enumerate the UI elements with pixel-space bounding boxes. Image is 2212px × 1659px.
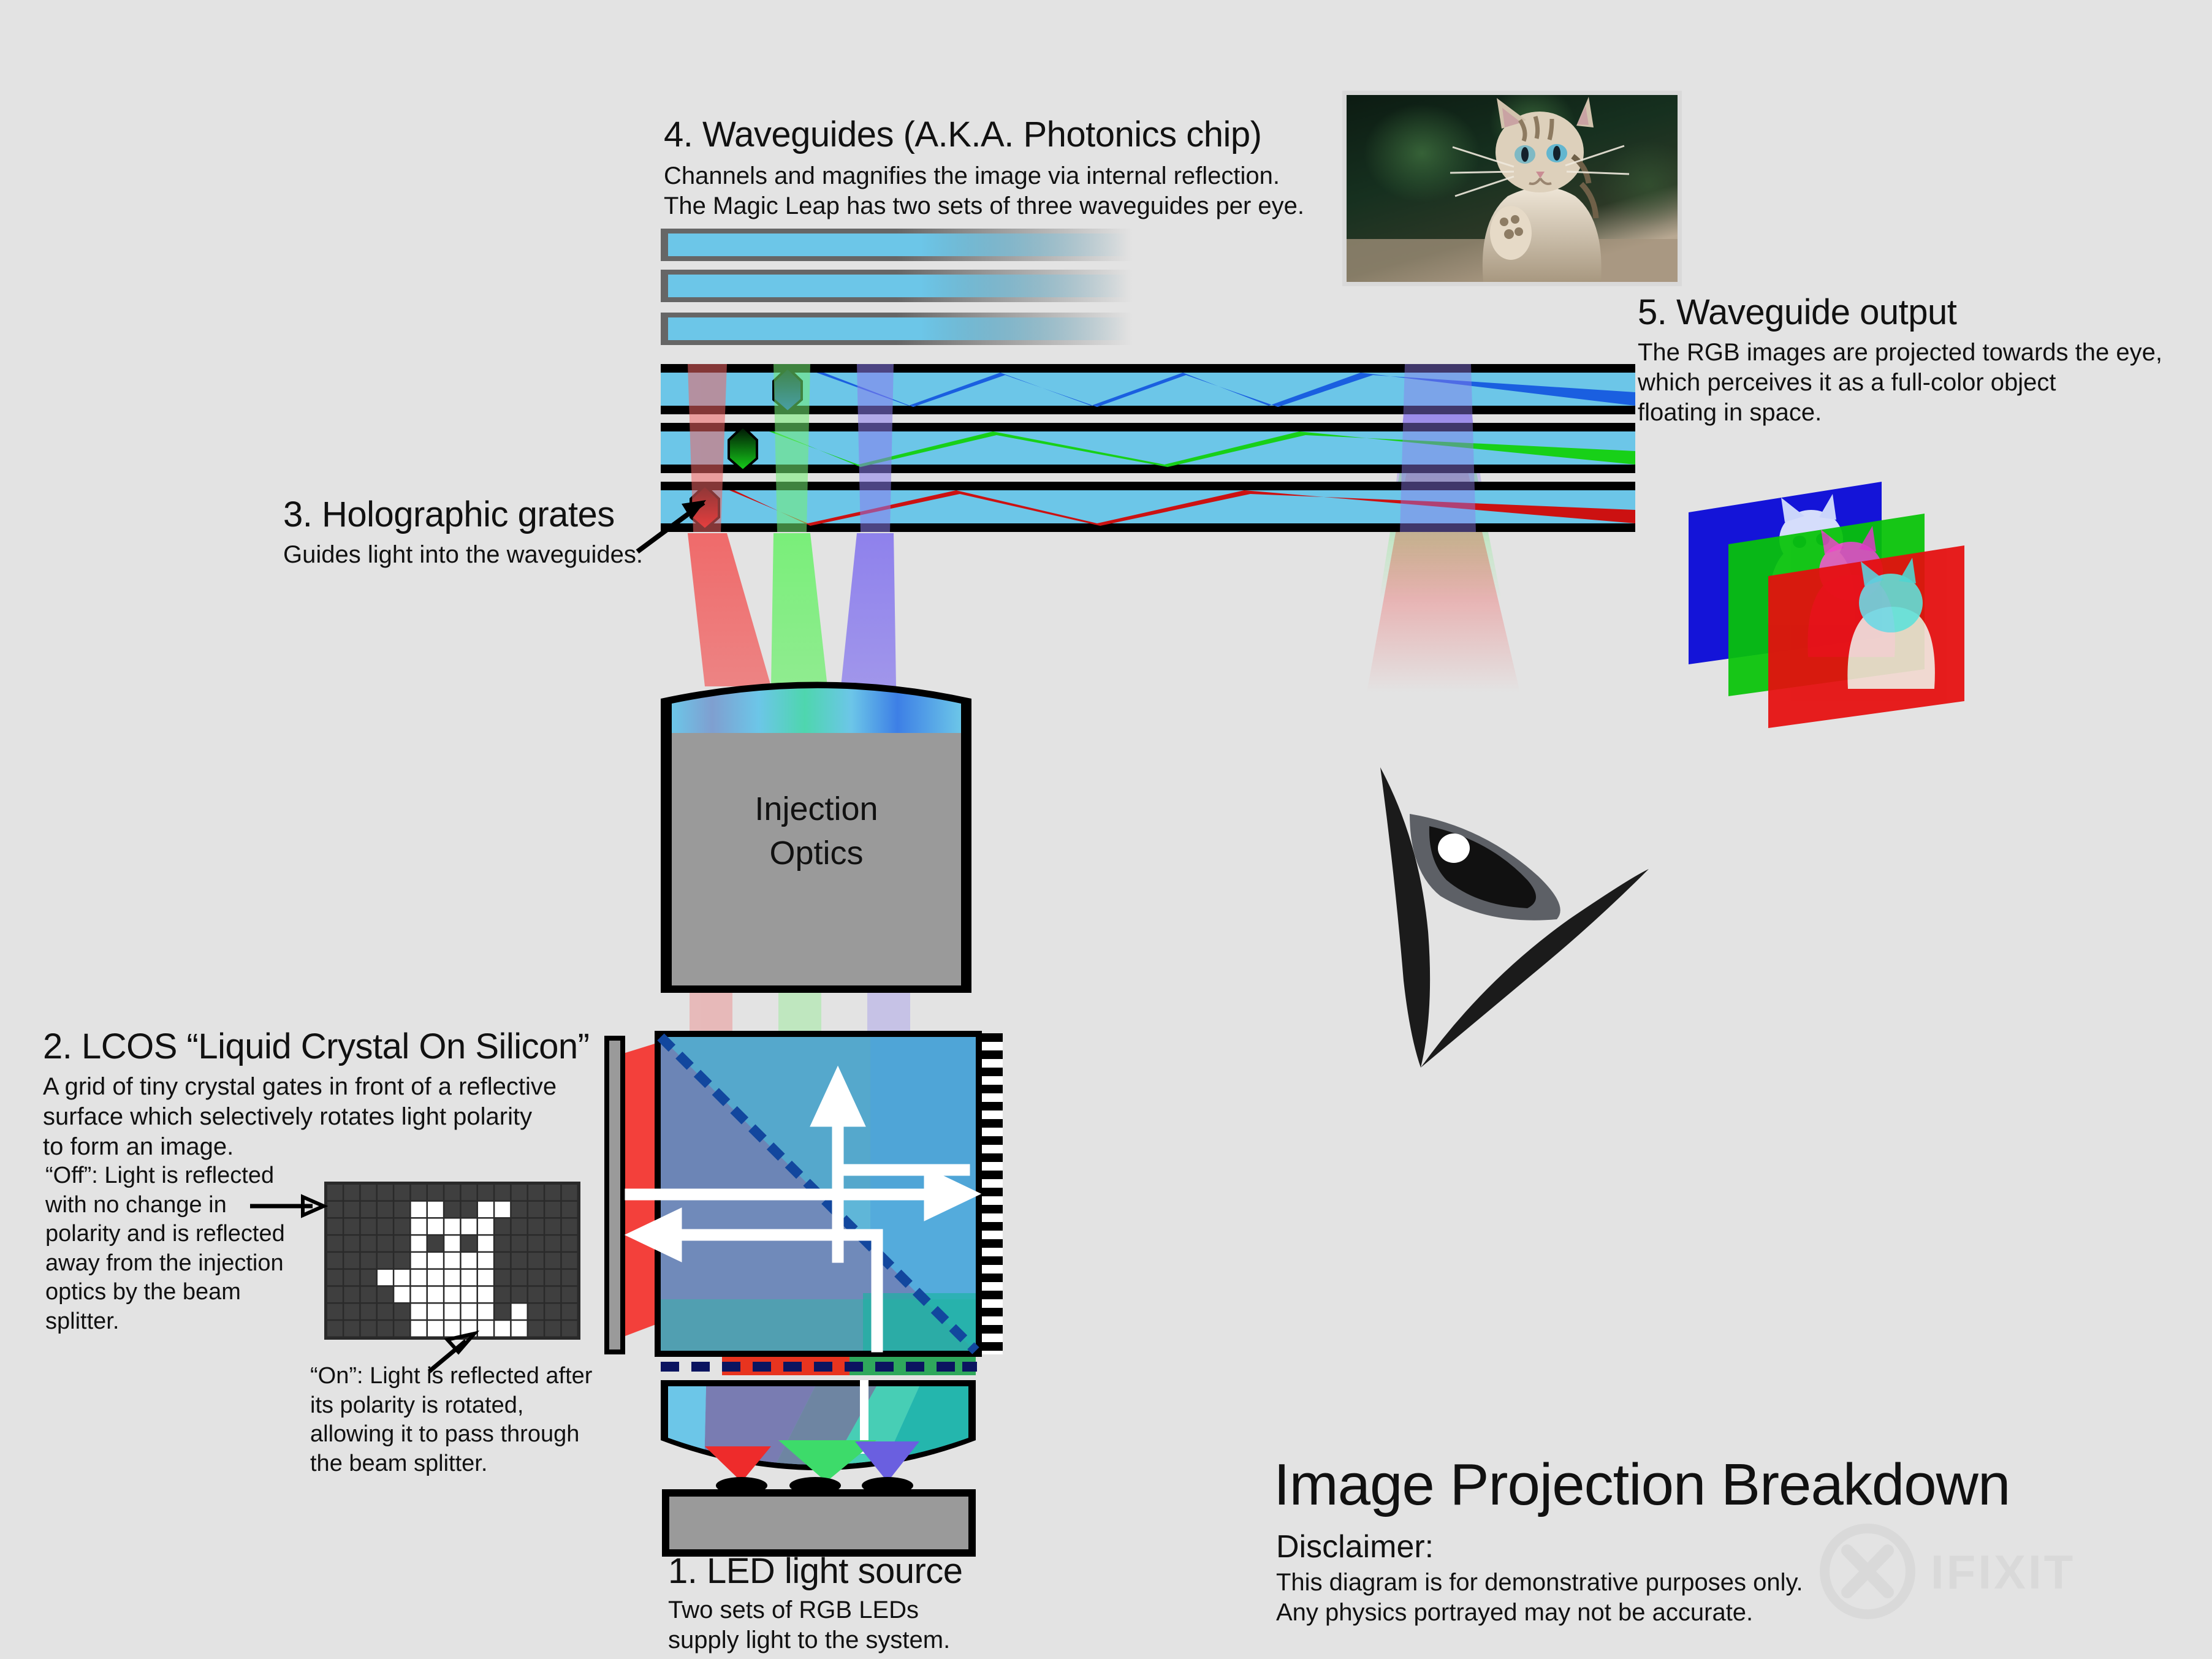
lcos-pixel-off <box>545 1287 560 1302</box>
lcos-pixel-on <box>444 1270 460 1285</box>
lcos-off-line-3: polarity and is reflected <box>45 1220 303 1249</box>
kitten-source-photo <box>1342 86 1698 286</box>
lcos-pixel-on <box>495 1202 510 1217</box>
lcos-pixel-on <box>462 1270 477 1285</box>
lcos-pixel-off <box>562 1287 577 1302</box>
step-grates-line-1: Guides light into the waveguides. <box>283 540 643 570</box>
step-lcos-heading: 2. LCOS “Liquid Crystal On Silicon” <box>43 1026 590 1067</box>
lcos-on-line-4: the beam splitter. <box>310 1449 629 1479</box>
injection-optics-label-line1: Injection <box>754 791 878 827</box>
lcos-pixel-off <box>361 1219 376 1234</box>
lcos-pixel-off <box>378 1185 393 1200</box>
fading-waveguide-bars <box>661 229 1133 345</box>
lcos-pixel-off <box>394 1253 409 1268</box>
lcos-pixel-off <box>495 1304 510 1319</box>
step-led-line-1: Two sets of RGB LEDs <box>668 1595 963 1625</box>
lcos-pixel-on <box>378 1270 393 1285</box>
lcos-pixel-off <box>327 1270 343 1285</box>
lcos-pixel-off <box>378 1236 393 1251</box>
lcos-pixel-off <box>512 1219 527 1234</box>
lcos-pixel-off <box>545 1253 560 1268</box>
lcos-pixel-off <box>562 1219 577 1234</box>
lcos-pixel-off <box>562 1321 577 1336</box>
lcos-pixel-off <box>512 1185 527 1200</box>
lcos-pixel-off <box>378 1304 393 1319</box>
lcos-pixel-off <box>528 1304 544 1319</box>
lcos-pixel-off <box>344 1202 359 1217</box>
lcos-pixel-off <box>528 1321 544 1336</box>
lcos-pixel-off <box>462 1202 477 1217</box>
lcos-pixel-on <box>411 1321 427 1336</box>
lcos-pixel-off <box>512 1270 527 1285</box>
injection-to-grate-beams <box>688 533 896 686</box>
lcos-pixel-on <box>411 1287 427 1302</box>
lcos-pixel-off <box>528 1219 544 1234</box>
lcos-on-line-2: its polarity is rotated, <box>310 1391 629 1421</box>
injection-optics-label-line2: Optics <box>769 835 863 871</box>
lcos-pixel-off <box>378 1219 393 1234</box>
lcos-pixel-on <box>478 1321 493 1336</box>
step-output-line-1: The RGB images are projected towards the… <box>1638 338 2162 368</box>
waveguide-stack <box>661 364 1635 532</box>
lcos-pixel-off <box>528 1236 544 1251</box>
lcos-pixel-off <box>327 1253 343 1268</box>
lcos-pixel-off <box>428 1185 443 1200</box>
lcos-pixel-off <box>545 1321 560 1336</box>
page-title-text: Image Projection Breakdown <box>1274 1451 2010 1519</box>
step-output-text: 5. Waveguide output The RGB images are p… <box>1638 292 2162 427</box>
step-waveguides-line-2: The Magic Leap has two sets of three wav… <box>664 191 1304 221</box>
lcos-pixel-off <box>344 1219 359 1234</box>
lcos-pixel-off <box>394 1236 409 1251</box>
lcos-pixel-off <box>545 1270 560 1285</box>
lcos-pixel-off <box>462 1236 477 1251</box>
lcos-active-layer <box>661 1357 977 1378</box>
left-mirror <box>604 1036 625 1354</box>
step-output-line-2: which perceives it as a full-color objec… <box>1638 368 2162 398</box>
disclaimer-line-1: This diagram is for demonstrative purpos… <box>1276 1568 1803 1598</box>
lcos-pixel-off <box>344 1236 359 1251</box>
lcos-pixel-off <box>528 1253 544 1268</box>
lcos-pixel-off <box>562 1253 577 1268</box>
lcos-pixel-off <box>444 1185 460 1200</box>
lcos-pixel-off <box>378 1202 393 1217</box>
lcos-pixel-on <box>512 1321 527 1336</box>
lcos-pixel-off <box>361 1202 376 1217</box>
lcos-pixel-off <box>528 1185 544 1200</box>
lcos-pixel-off <box>545 1202 560 1217</box>
lcos-pixel-off <box>361 1321 376 1336</box>
lcos-pixel-on <box>462 1253 477 1268</box>
lcos-pixel-on <box>394 1287 409 1302</box>
lcos-pixel-off <box>562 1304 577 1319</box>
lcos-pixel-off <box>361 1236 376 1251</box>
step-grates-heading: 3. Holographic grates <box>283 494 643 535</box>
lcos-pixel-off <box>327 1287 343 1302</box>
lcos-pixel-off <box>495 1287 510 1302</box>
lcos-pixel-on <box>462 1287 477 1302</box>
lcos-pixel-off <box>394 1304 409 1319</box>
lcos-pixel-on <box>428 1219 443 1234</box>
lcos-pixel-on <box>411 1253 427 1268</box>
fading-bar-3 <box>661 313 1133 345</box>
lcos-pixel-off <box>495 1253 510 1268</box>
lcos-pixel-off <box>562 1236 577 1251</box>
lcos-pixel-off <box>361 1287 376 1302</box>
lcos-pixel-on <box>478 1304 493 1319</box>
lcos-pixel-on <box>411 1270 427 1285</box>
lcos-pixel-off <box>545 1185 560 1200</box>
lcos-pixel-on <box>478 1253 493 1268</box>
lcos-pixel-off <box>562 1270 577 1285</box>
fading-bar-2 <box>661 270 1133 302</box>
lcos-pixel-grid <box>324 1182 580 1340</box>
page-title: Image Projection Breakdown <box>1274 1451 2010 1519</box>
lcos-pixel-on <box>462 1219 477 1234</box>
rgb-output-images <box>1689 482 1964 728</box>
lcos-off-line-6: splitter. <box>45 1307 303 1337</box>
lcos-pixel-off <box>361 1304 376 1319</box>
lcos-pixel-off <box>495 1185 510 1200</box>
lcos-pixel-off <box>528 1202 544 1217</box>
lcos-pixel-off <box>327 1304 343 1319</box>
step-led-heading: 1. LED light source <box>668 1551 963 1592</box>
lcos-pixel-on <box>444 1253 460 1268</box>
step-lcos-text: 2. LCOS “Liquid Crystal On Silicon” A gr… <box>43 1026 590 1161</box>
lcos-pixel-on <box>444 1321 460 1336</box>
step-waveguides-text: 4. Waveguides (A.K.A. Photonics chip) Ch… <box>664 114 1304 221</box>
lcos-pixel-off <box>428 1236 443 1251</box>
diagram-canvas: Injection Optics <box>0 0 2212 1659</box>
disclaimer-block: Disclaimer: This diagram is for demonstr… <box>1276 1528 1803 1628</box>
fading-bar-1 <box>661 229 1133 261</box>
lcos-pixel-off <box>378 1253 393 1268</box>
lcos-pixel-on <box>478 1202 493 1217</box>
lcos-pixel-on <box>495 1321 510 1336</box>
lcos-pixel-off <box>562 1202 577 1217</box>
lcos-pixel-on <box>428 1270 443 1285</box>
step-led-text: 1. LED light source Two sets of RGB LEDs… <box>668 1551 963 1655</box>
lcos-pixel-off <box>361 1253 376 1268</box>
lcos-pixel-on <box>411 1219 427 1234</box>
lcos-pixel-off <box>528 1270 544 1285</box>
step-lcos-line-1: A grid of tiny crystal gates in front of… <box>43 1072 590 1102</box>
lcos-on-line-3: allowing it to pass through <box>310 1420 629 1449</box>
lcos-pixel-off <box>378 1287 393 1302</box>
lcos-pixel-on <box>478 1219 493 1234</box>
lcos-on-description: “On”: Light is reflected after its polar… <box>310 1362 629 1478</box>
lcos-on-line-1: “On”: Light is reflected after <box>310 1362 629 1391</box>
lcos-assembly <box>604 1031 1003 1357</box>
step-led-line-2: supply light to the system. <box>668 1625 963 1655</box>
lcos-pixel-off <box>327 1185 343 1200</box>
lcos-pixel-on <box>411 1202 427 1217</box>
lcos-off-line-2: with no change in <box>45 1191 303 1220</box>
lcos-pixel-on <box>428 1304 443 1319</box>
lcos-pixel-off <box>478 1185 493 1200</box>
step-lcos-line-2: surface which selectively rotates light … <box>43 1102 590 1132</box>
lcos-pixel-off <box>344 1185 359 1200</box>
lcos-pixel-off <box>562 1185 577 1200</box>
lcos-off-line-1: “Off”: Light is reflected <box>45 1161 303 1191</box>
step-waveguides-heading: 4. Waveguides (A.K.A. Photonics chip) <box>664 114 1304 155</box>
lcos-pixel-on <box>428 1202 443 1217</box>
step-output-line-3: floating in space. <box>1638 398 2162 428</box>
lcos-pixel-off <box>344 1253 359 1268</box>
lcos-pixel-off <box>378 1321 393 1336</box>
lcos-pixel-off <box>545 1236 560 1251</box>
lcos-pixel-off <box>462 1185 477 1200</box>
lcos-pixel-on <box>444 1287 460 1302</box>
lcos-pixel-off <box>545 1219 560 1234</box>
lcos-pixel-off <box>394 1202 409 1217</box>
lcos-pixel-off <box>394 1321 409 1336</box>
disclaimer-heading: Disclaimer: <box>1276 1528 1803 1565</box>
lcos-pixel-off <box>394 1219 409 1234</box>
lcos-pixel-off <box>512 1202 527 1217</box>
ifixit-wordmark: IFIXIT <box>1931 1545 2075 1599</box>
lcos-pixel-off <box>528 1287 544 1302</box>
step-waveguides-line-1: Channels and magnifies the image via int… <box>664 161 1304 191</box>
lcos-pixel-on <box>478 1287 493 1302</box>
lcos-pixel-off <box>411 1185 427 1200</box>
lcos-pixel-off <box>344 1304 359 1319</box>
lcos-pixel-off <box>327 1321 343 1336</box>
lcos-pixel-on <box>462 1304 477 1319</box>
lcos-pixel-off <box>327 1236 343 1251</box>
lcos-pixel-on <box>444 1219 460 1234</box>
lcos-pixel-off <box>344 1270 359 1285</box>
lcos-pixel-on <box>428 1253 443 1268</box>
lcos-pixel-off <box>327 1219 343 1234</box>
step-output-heading: 5. Waveguide output <box>1638 292 2162 333</box>
lcos-pixel-off <box>512 1287 527 1302</box>
lcos-pixel-on <box>428 1321 443 1336</box>
lcos-off-description: “Off”: Light is reflected with no change… <box>45 1161 303 1336</box>
lcos-pixel-on <box>411 1236 427 1251</box>
lcos-pixel-off <box>545 1304 560 1319</box>
lcos-pixel-on <box>444 1236 460 1251</box>
lcos-pixel-off <box>495 1236 510 1251</box>
lcos-pixel-on <box>394 1270 409 1285</box>
step-lcos-line-3: to form an image. <box>43 1132 590 1162</box>
lcos-pixel-off <box>495 1270 510 1285</box>
lcos-pixel-off <box>361 1185 376 1200</box>
lcos-pixel-off <box>327 1202 343 1217</box>
lcos-pixel-on <box>411 1304 427 1319</box>
lcos-pixel-on <box>512 1304 527 1319</box>
lcos-pixel-off <box>512 1236 527 1251</box>
lcos-pixel-off <box>394 1185 409 1200</box>
lcos-pixel-off <box>344 1321 359 1336</box>
rgb-image-red <box>1768 545 1964 728</box>
lcos-pixel-comb <box>982 1033 1003 1354</box>
lcos-off-line-4: away from the injection <box>45 1249 303 1278</box>
lcos-pixel-off <box>444 1202 460 1217</box>
injection-optics-block: Injection Optics <box>661 682 971 993</box>
lcos-pixel-on <box>428 1287 443 1302</box>
lcos-pixel-off <box>344 1287 359 1302</box>
lcos-pixel-off <box>495 1219 510 1234</box>
lcos-pixel-on <box>478 1236 493 1251</box>
lcos-pixel-off <box>512 1253 527 1268</box>
lcos-off-line-5: optics by the beam <box>45 1278 303 1307</box>
lcos-pixel-on <box>478 1270 493 1285</box>
step-grates-text: 3. Holographic grates Guides light into … <box>283 494 643 570</box>
disclaimer-line-2: Any physics portrayed may not be accurat… <box>1276 1598 1803 1628</box>
lcos-pixel-on <box>444 1304 460 1319</box>
lcos-pixel-off <box>361 1270 376 1285</box>
